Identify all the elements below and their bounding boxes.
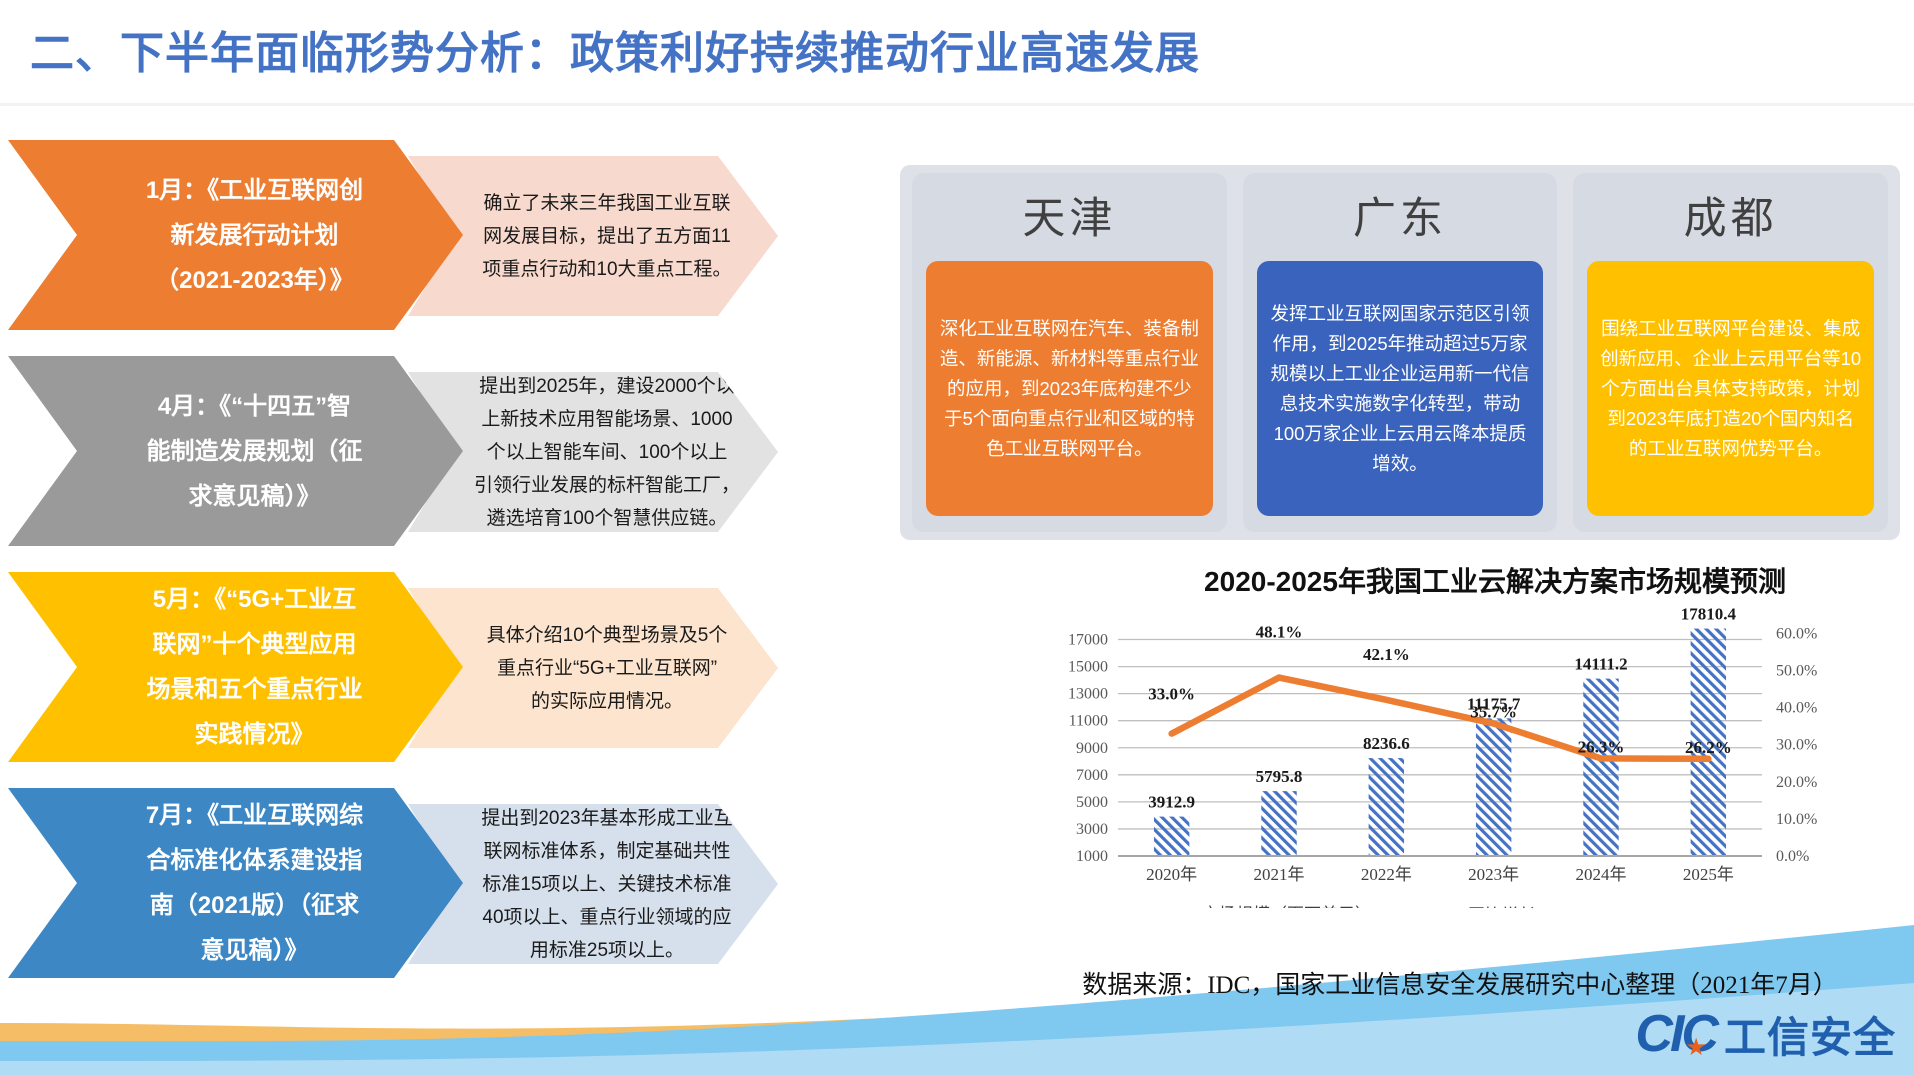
policy-description-text: 提出到2023年基本形成工业互 联网标准体系，制定基础共性 标准15项以上、关键… [435,802,750,967]
line-value-label: 26.2% [1685,738,1732,757]
y-axis-tick-label: 3000 [1076,821,1108,838]
chart-bar [1583,679,1618,856]
x-axis-tick-label: 2024年 [1576,865,1627,884]
line-value-label: 48.1% [1256,623,1303,642]
city-card[interactable]: 天津深化工业互联网在汽车、装备制造、新能源、新材料等重点行业的应用，到2023年… [912,173,1227,532]
line-value-label: 42.1% [1363,645,1410,664]
y2-axis-tick-label: 10.0% [1776,811,1817,828]
x-axis-tick-label: 2022年 [1361,865,1412,884]
line-value-label: 26.3% [1578,737,1625,756]
y2-axis-tick-label: 60.0% [1776,625,1817,642]
policy-row: 提出到2023年基本形成工业互 联网标准体系，制定基础共性 标准15项以上、关键… [8,788,838,998]
legend-bar-label: 市场规模（百万美元） [1202,905,1372,908]
y-axis-tick-label: 11000 [1069,713,1108,730]
organization-logo: CIC★ 工信安全 [1635,1003,1896,1065]
chart-bar [1261,791,1296,856]
policy-chevron-label: 7月：《工业互联网综 合标准化体系建设指 南（2021版）（征求 意见稿）》 [80,793,391,973]
city-card-body-text: 围绕工业互联网平台建设、集成创新应用、企业上云用平台等10个方面出台具体支持政策… [1599,314,1862,464]
policy-chevron[interactable]: 4月：《“十四五”智 能制造发展规划（征 求意见稿）》 [8,356,463,546]
policy-description-text: 具体介绍10个典型场景及5个 重点行业“5G+工业互联网” 的实际应用情况。 [441,619,746,718]
city-card[interactable]: 广东发挥工业互联网国家示范区引领作用，到2025年推动超过5万家规模以上工业企业… [1243,173,1558,532]
y-axis-tick-label: 7000 [1076,767,1108,784]
bar-value-label: 8236.6 [1363,734,1410,753]
source-note: 数据来源：IDC，国家工业信息安全发展研究中心整理（2021年7月） [1010,965,1910,1001]
line-value-label: 33.0% [1148,685,1195,704]
city-card-body: 深化工业互联网在汽车、装备制造、新能源、新材料等重点行业的应用，到2023年底构… [926,261,1213,516]
slide-root: 二、下半年面临形势分析：政策利好持续推动行业高速发展 确立了未来三年我国工业互联… [0,0,1914,1075]
chart-bar [1154,817,1189,856]
bar-value-label: 14111.2 [1574,655,1627,674]
star-icon: ★ [1685,1022,1704,1074]
policy-row: 具体介绍10个典型场景及5个 重点行业“5G+工业互联网” 的实际应用情况。5月… [8,572,838,782]
policy-chevron-label: 5月：《“5G+工业互 联网”十个典型应用 场景和五个重点行业 实践情况》 [81,577,391,757]
slide-header: 二、下半年面临形势分析：政策利好持续推动行业高速发展 [30,10,1890,102]
x-axis-tick-label: 2023年 [1468,865,1519,884]
city-policy-cards: 天津深化工业互联网在汽车、装备制造、新能源、新材料等重点行业的应用，到2023年… [900,165,1900,540]
chart-plot-area: 1000300050007000900011000130001500017000… [1000,608,1900,908]
y2-axis-tick-label: 30.0% [1776,737,1817,754]
y-axis-tick-label: 13000 [1068,686,1108,703]
line-value-label: 35.7% [1470,703,1517,722]
city-card[interactable]: 成都围绕工业互联网平台建设、集成创新应用、企业上云用平台等10个方面出台具体支持… [1573,173,1888,532]
logo-mark-text: CIC★ [1635,1008,1716,1060]
policy-description-callout: 具体介绍10个典型场景及5个 重点行业“5G+工业互联网” 的实际应用情况。 [408,588,778,748]
page-title: 二、下半年面临形势分析：政策利好持续推动行业高速发展 [30,10,1890,98]
policy-chevron[interactable]: 5月：《“5G+工业互 联网”十个典型应用 场景和五个重点行业 实践情况》 [8,572,463,762]
city-card-body: 围绕工业互联网平台建设、集成创新应用、企业上云用平台等10个方面出台具体支持政策… [1587,261,1874,516]
city-card-title: 天津 [1022,191,1116,247]
city-card-title: 广东 [1353,191,1447,247]
bar-value-label: 3912.9 [1148,793,1195,812]
chart-bar [1476,718,1511,856]
y2-axis-tick-label: 20.0% [1776,774,1817,791]
chart-bar [1369,758,1404,856]
y-axis-tick-label: 17000 [1068,632,1108,649]
policy-description-text: 提出到2025年，建设2000个以 上新技术应用智能场景、1000 个以上智能车… [428,370,758,535]
bar-value-label: 5795.8 [1256,767,1303,786]
policy-chevron-label: 4月：《“十四五”智 能制造发展规划（征 求意见稿）》 [81,384,391,519]
city-card-body-text: 发挥工业互联网国家示范区引领作用，到2025年推动超过5万家规模以上工业企业运用… [1269,299,1532,479]
bar-value-label: 17810.4 [1681,608,1737,624]
policy-chevron-label: 1月：《工业互联网创 新发展行动计划 （2021-2023年）》 [80,168,391,303]
logo-name-text: 工信安全 [1724,1004,1896,1065]
y2-axis-tick-label: 50.0% [1776,663,1817,680]
y-axis-tick-label: 1000 [1076,848,1108,865]
policy-timeline-list: 确立了未来三年我国工业互联 网发展目标，提出了五方面11 项重点行动和10大重点… [8,140,838,1004]
y-axis-tick-label: 5000 [1076,794,1108,811]
policy-row: 提出到2025年，建设2000个以 上新技术应用智能场景、1000 个以上智能车… [8,356,838,566]
chart-svg: 1000300050007000900011000130001500017000… [1000,608,1900,908]
legend-line-label: 同比增长 [1468,906,1536,908]
policy-description-callout: 提出到2023年基本形成工业互 联网标准体系，制定基础共性 标准15项以上、关键… [408,804,778,964]
x-axis-tick-label: 2021年 [1254,865,1305,884]
city-card-body-text: 深化工业互联网在汽车、装备制造、新能源、新材料等重点行业的应用，到2023年底构… [938,314,1201,464]
y2-axis-tick-label: 0.0% [1776,848,1809,865]
policy-description-callout: 提出到2025年，建设2000个以 上新技术应用智能场景、1000 个以上智能车… [408,372,778,532]
y-axis-tick-label: 9000 [1076,740,1108,757]
header-divider [0,103,1914,108]
city-card-body: 发挥工业互联网国家示范区引领作用，到2025年推动超过5万家规模以上工业企业运用… [1257,261,1544,516]
y2-axis-tick-label: 40.0% [1776,700,1817,717]
policy-description-callout: 确立了未来三年我国工业互联 网发展目标，提出了五方面11 项重点行动和10大重点… [408,156,778,316]
city-card-title: 成都 [1684,191,1778,247]
policy-description-text: 确立了未来三年我国工业互联 网发展目标，提出了五方面11 项重点行动和10大重点… [436,187,749,286]
chart-line [1172,678,1709,759]
chart-title: 2020-2025年我国工业云解决方案市场规模预测 [1090,560,1900,604]
x-axis-tick-label: 2020年 [1146,865,1197,884]
y-axis-tick-label: 15000 [1068,659,1108,676]
market-forecast-chart: 2020-2025年我国工业云解决方案市场规模预测 10003000500070… [1000,560,1900,960]
policy-chevron[interactable]: 1月：《工业互联网创 新发展行动计划 （2021-2023年）》 [8,140,463,330]
x-axis-tick-label: 2025年 [1683,865,1734,884]
policy-row: 确立了未来三年我国工业互联 网发展目标，提出了五方面11 项重点行动和10大重点… [8,140,838,350]
policy-chevron[interactable]: 7月：《工业互联网综 合标准化体系建设指 南（2021版）（征求 意见稿）》 [8,788,463,978]
